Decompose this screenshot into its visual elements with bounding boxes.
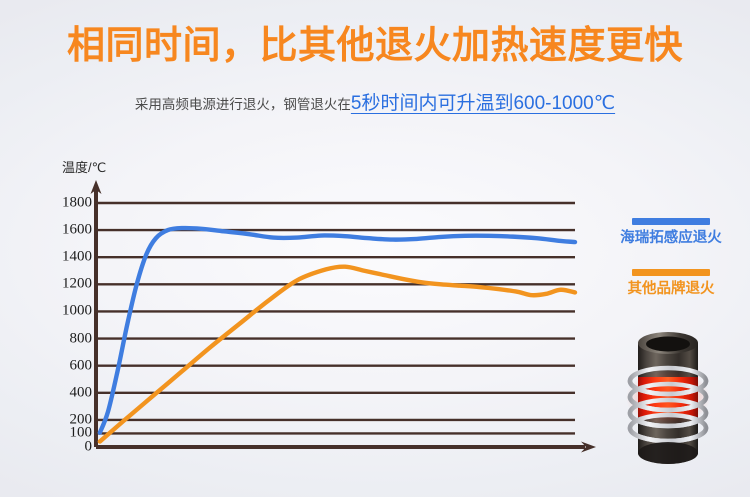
subtitle-highlight-text: 5秒时间内可升温到600-1000℃ — [351, 93, 615, 114]
legend-label-haoruituo: 海瑞拓感应退火 — [596, 230, 746, 247]
subtitle: 采用高频电源进行退火，钢管退火在5秒时间内可升温到600-1000℃ — [0, 94, 750, 115]
legend-item-haoruituo: 海瑞拓感应退火 — [596, 218, 746, 247]
legend-item-other-brand: 其他品牌退火 — [596, 269, 746, 298]
page-title: 相同时间，比其他退火加热速度更快 — [0, 24, 750, 68]
legend-label-other-brand: 其他品牌退火 — [596, 281, 746, 298]
chart-legend: 海瑞拓感应退火 其他品牌退火 — [596, 218, 746, 320]
legend-swatch-blue — [632, 218, 710, 225]
subtitle-plain-text: 采用高频电源进行退火，钢管退火在 — [135, 97, 351, 112]
steel-pipe-induction-coil-image — [608, 325, 728, 475]
series-line-haoruituo — [100, 228, 575, 433]
series-line-other-brand — [100, 267, 575, 442]
temperature-chart: 温度/℃ 18001600140012001000800600400200100… — [0, 140, 750, 497]
promo-banner: 相同时间，比其他退火加热速度更快 采用高频电源进行退火，钢管退火在5秒时间内可升… — [0, 0, 750, 497]
legend-swatch-orange — [632, 269, 710, 276]
